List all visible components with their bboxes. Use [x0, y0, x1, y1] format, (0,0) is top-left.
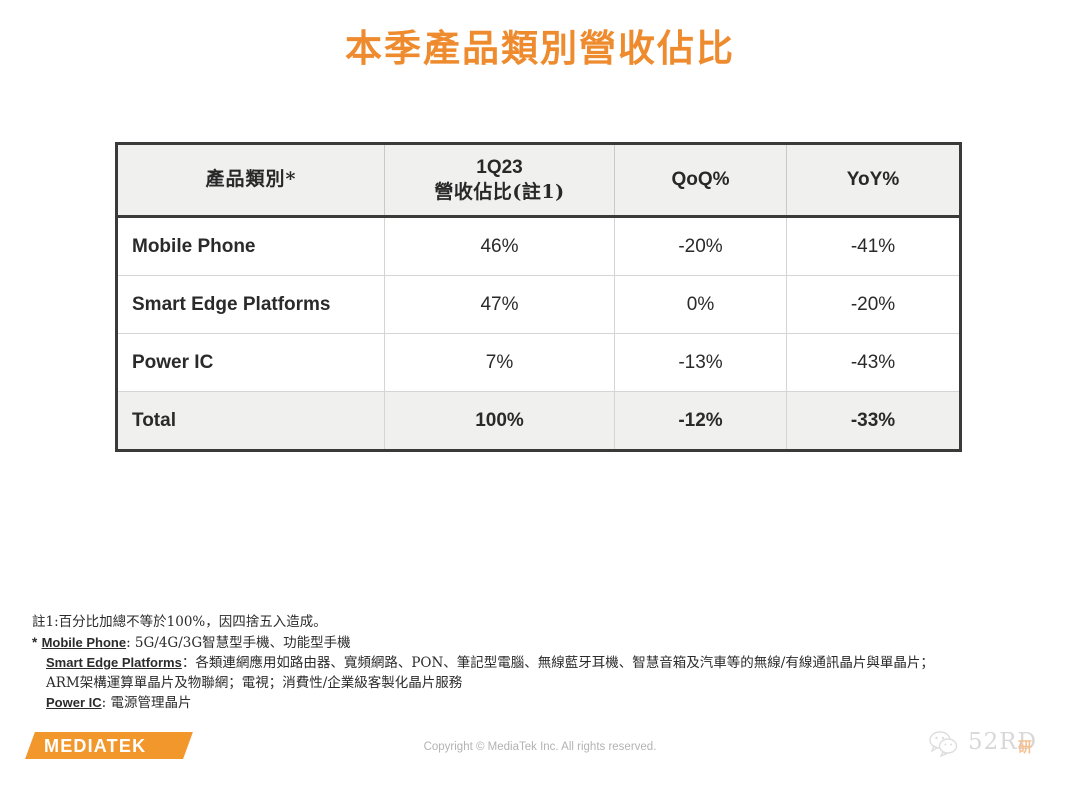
column-header-qoq-label: QoQ% [671, 169, 729, 190]
watermark: 52RD 研 [928, 728, 1068, 764]
footnote-mobile-phone: * Mobile Phone: 5G/4G/3G智慧型手機、功能型手機 [32, 633, 1052, 654]
table-body: Mobile Phone 46% -20% -41% Smart Edge Pl… [117, 217, 961, 451]
cell-category: Mobile Phone [117, 217, 385, 276]
footnote-desc-smart-edge: ：各類連網應用如路由器、寬頻網路、PON、筆記型電腦、無線藍牙耳機、智慧音箱及汽… [182, 655, 934, 671]
cell-category: Smart Edge Platforms [117, 276, 385, 334]
cell-yoy: -43% [787, 334, 961, 392]
cell-qoq: 0% [615, 276, 787, 334]
footnote-power-ic: Power IC: 電源管理晶片 [32, 693, 1052, 714]
cell-qoq: -12% [615, 392, 787, 451]
column-header-revenue-share-label: 營收佔比(註1) [391, 180, 608, 204]
cell-revenue-share: 100% [385, 392, 615, 451]
page-title: 本季產品類別營收佔比 [0, 26, 1080, 70]
table-row-total: Total 100% -12% -33% [117, 392, 961, 451]
cell-category: Power IC [117, 334, 385, 392]
column-header-qoq: QoQ% [615, 144, 787, 217]
table-row: Power IC 7% -13% -43% [117, 334, 961, 392]
table-header: 產品類別* 1Q23 營收佔比(註1) QoQ% YoY% [117, 144, 961, 217]
footnote-term-mobile-phone: Mobile Phone [42, 635, 127, 650]
cell-revenue-share: 47% [385, 276, 615, 334]
footnote-term-power-ic: Power IC [46, 695, 102, 710]
cell-yoy: -20% [787, 276, 961, 334]
footnote-desc-power-ic: : 電源管理晶片 [102, 695, 192, 711]
cell-yoy: -33% [787, 392, 961, 451]
table-row: Smart Edge Platforms 47% 0% -20% [117, 276, 961, 334]
column-header-yoy-label: YoY% [847, 169, 899, 190]
cell-revenue-share: 46% [385, 217, 615, 276]
footnote-term-smart-edge: Smart Edge Platforms [46, 655, 182, 670]
footnotes: 註1:百分比加總不等於100%，因四捨五入造成。 * Mobile Phone:… [32, 613, 1052, 714]
copyright-notice: Copyright © MediaTek Inc. All rights res… [0, 741, 1080, 753]
column-header-revenue-share-period: 1Q23 [476, 157, 522, 178]
cell-qoq: -13% [615, 334, 787, 392]
footnote-desc-mobile-phone: : 5G/4G/3G智慧型手機、功能型手機 [126, 635, 351, 651]
cell-category: Total [117, 392, 385, 451]
watermark-accent-char: 研 [1018, 737, 1032, 757]
footnote-star: * [32, 635, 37, 650]
wechat-icon [928, 730, 962, 758]
table-row: Mobile Phone 46% -20% -41% [117, 217, 961, 276]
column-header-category: 產品類別* [117, 144, 385, 217]
column-header-category-label: 產品類別* [206, 168, 297, 190]
column-header-yoy: YoY% [787, 144, 961, 217]
table-header-row: 產品類別* 1Q23 營收佔比(註1) QoQ% YoY% [117, 144, 961, 217]
footnote-note1: 註1:百分比加總不等於100%，因四捨五入造成。 [32, 613, 1052, 633]
footnote-smart-edge: Smart Edge Platforms：各類連網應用如路由器、寬頻網路、PON… [32, 653, 1052, 674]
cell-qoq: -20% [615, 217, 787, 276]
revenue-share-table: 產品類別* 1Q23 營收佔比(註1) QoQ% YoY% Mobile Pho… [115, 142, 962, 452]
footnote-smart-edge-cont: ARM架構運算單晶片及物聯網；電視；消費性/企業級客製化晶片服務 [32, 674, 1052, 694]
revenue-share-table-container: 產品類別* 1Q23 營收佔比(註1) QoQ% YoY% Mobile Pho… [115, 142, 959, 452]
cell-yoy: -41% [787, 217, 961, 276]
column-header-revenue-share: 1Q23 營收佔比(註1) [385, 144, 615, 217]
cell-revenue-share: 7% [385, 334, 615, 392]
